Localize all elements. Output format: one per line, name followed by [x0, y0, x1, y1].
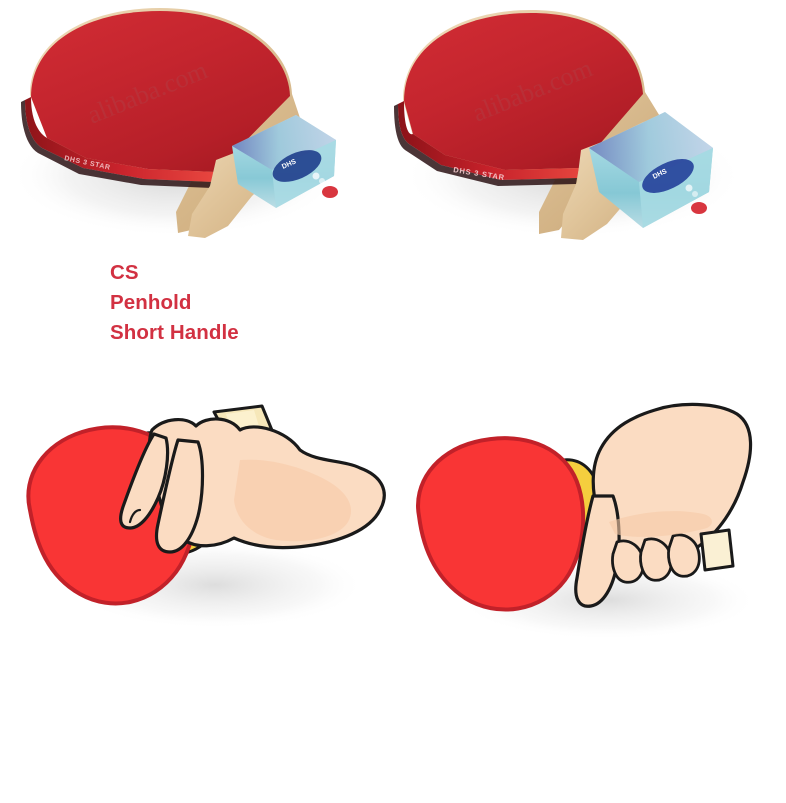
shakehand-column-bottom: -Better for intermediate & Senior Player… [393, 400, 786, 803]
caption-line-abbr: CS [110, 258, 239, 288]
caption-line-handle: Short Handle [110, 318, 239, 348]
penhold-column-top: DHS 3 STAR DHS alibaba.com CS Pe [0, 0, 393, 400]
paddle-face-red [418, 438, 583, 609]
grip-comparison-infographic: DHS 3 STAR DHS alibaba.com CS Pe [0, 0, 786, 803]
penhold-grip-illustration [0, 400, 393, 645]
paddle-handle-butt [701, 530, 733, 570]
curled-finger-3 [669, 535, 700, 576]
grip-badge-dot [313, 173, 320, 180]
grip-badge-dot [686, 185, 693, 192]
shakehand-column-top: DHS 3 STAR DHS alibaba.com FL Shakehand [393, 0, 786, 400]
curled-finger-1 [613, 541, 644, 582]
penhold-column-bottom: -Easy to learn -Better for beginner -Eas… [0, 400, 393, 803]
caption-line-grip: Penhold [110, 288, 239, 318]
shakehand-grip-illustration [393, 400, 786, 645]
penhold-caption: CS Penhold Short Handle [110, 258, 239, 348]
penhold-racket-photo: DHS 3 STAR DHS alibaba.com [0, 0, 393, 260]
grip-badge-dot [319, 178, 325, 184]
shakehand-racket-photo: DHS 3 STAR DHS alibaba.com [393, 0, 786, 260]
grip-seal [322, 186, 338, 198]
grip-badge-dot [692, 191, 698, 197]
grip-seal [691, 202, 707, 214]
curled-finger-2 [641, 539, 672, 580]
